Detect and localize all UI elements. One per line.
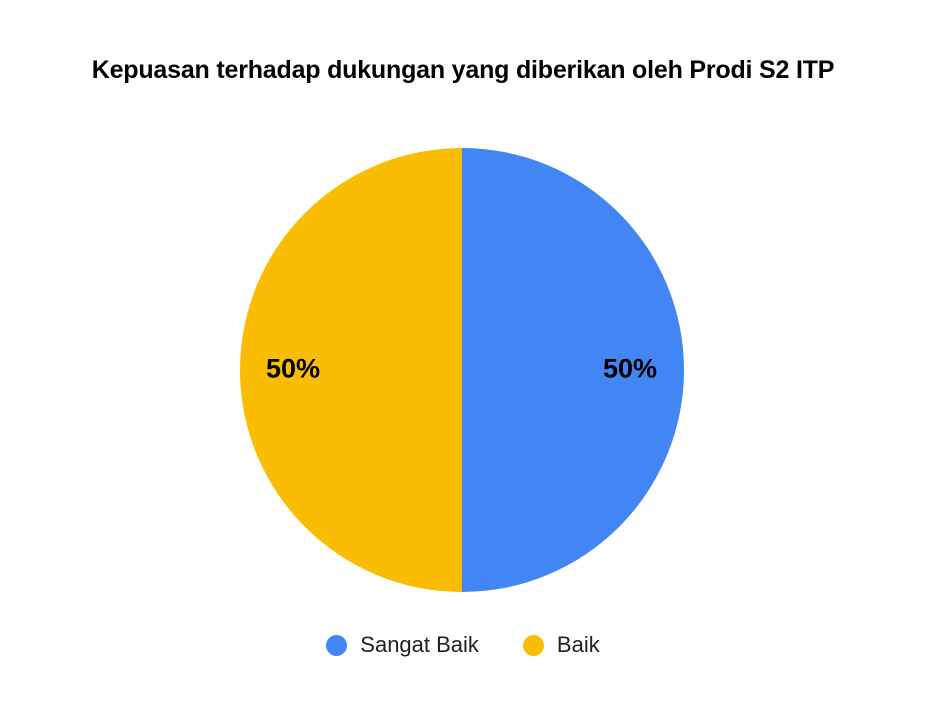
pie-svg bbox=[240, 148, 684, 592]
chart-legend: Sangat Baik Baik bbox=[0, 625, 926, 665]
pie-slice-sangat-baik[interactable] bbox=[462, 148, 684, 592]
chart-title: Kepuasan terhadap dukungan yang diberika… bbox=[0, 56, 926, 85]
legend-item-label: Baik bbox=[557, 634, 600, 656]
pie-chart-figure: Kepuasan terhadap dukungan yang diberika… bbox=[0, 0, 926, 702]
legend-circle-icon bbox=[326, 635, 347, 656]
legend-item-sangat-baik[interactable]: Sangat Baik bbox=[326, 634, 479, 656]
plot-area: 50% 50% bbox=[0, 110, 926, 610]
pie-graphic bbox=[240, 148, 684, 592]
pie-slice-baik[interactable] bbox=[240, 148, 462, 592]
legend-item-baik[interactable]: Baik bbox=[523, 634, 600, 656]
legend-circle-icon bbox=[523, 635, 544, 656]
legend-item-label: Sangat Baik bbox=[360, 634, 479, 656]
